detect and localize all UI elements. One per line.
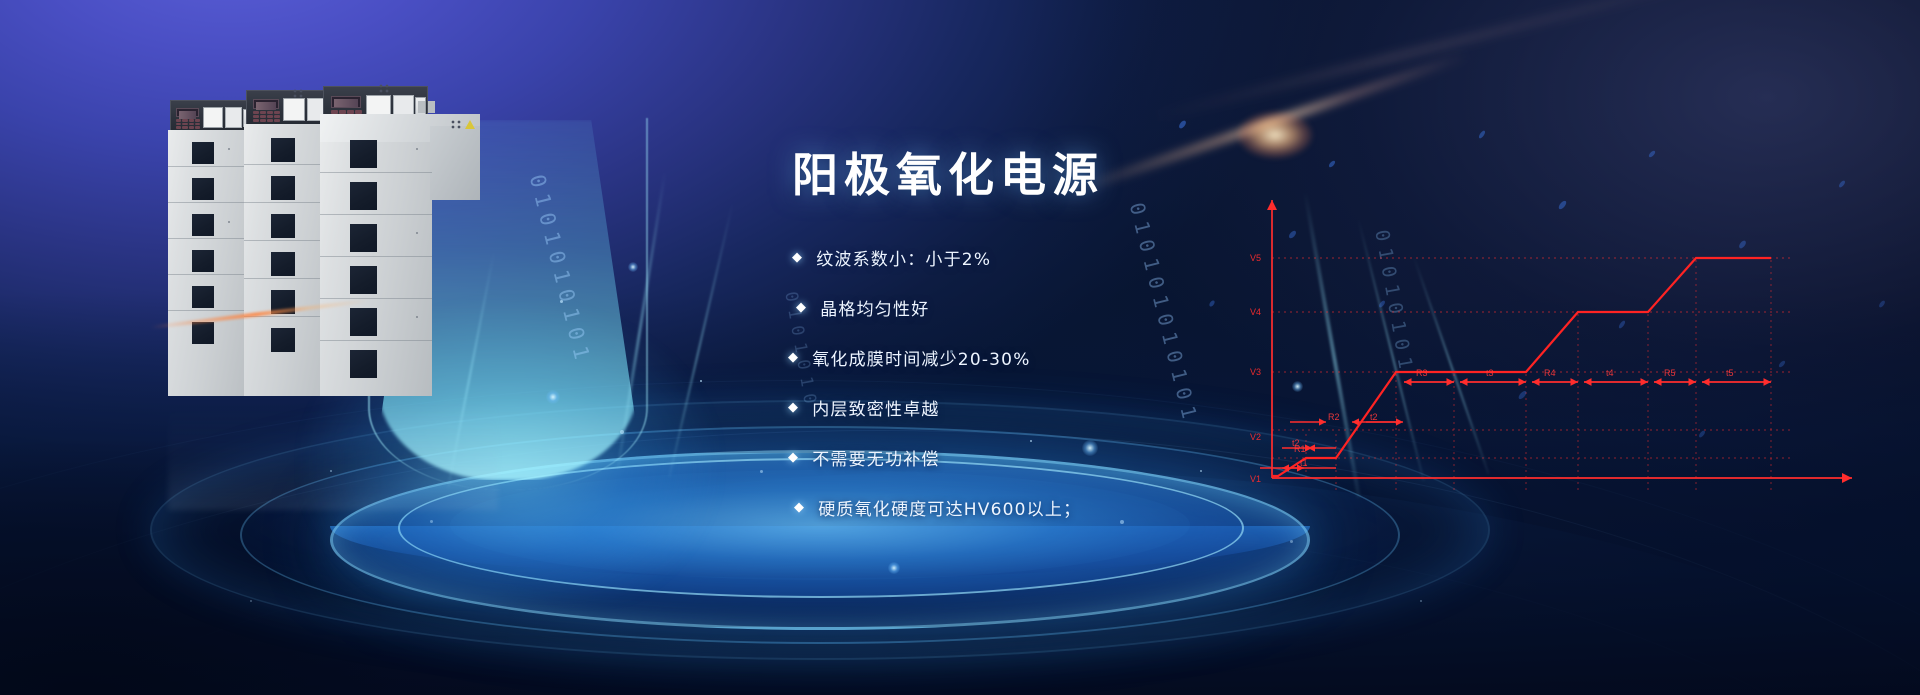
- cabinet-left-screw-1: [228, 148, 230, 150]
- cabinet-right-screw-1: [416, 148, 418, 150]
- feature-item-4: ◆ 内层致密性卓越: [788, 395, 1492, 420]
- diamond-bullet-icon: ◆: [792, 251, 803, 264]
- feature-list: ◆ 纹波系数小：小于2% ◆ 晶格均匀性好 ◆ 氧化成膜时间减少20-30% ◆…: [792, 245, 1492, 520]
- cabinet-right-seam-5: [320, 340, 432, 341]
- cabinet-right-vent-5: [350, 308, 377, 336]
- cabinet-left-seam-2: [168, 202, 256, 203]
- feature-item-6: ◆ 硬质氧化硬度可达HV600以上；: [794, 495, 1492, 520]
- diamond-bullet-icon: ◆: [788, 351, 799, 364]
- cabinet-left-meter-a: [203, 107, 223, 128]
- diamond-bullet-icon: ◆: [788, 451, 799, 464]
- cabinet-right-vent-2: [350, 182, 377, 210]
- diamond-bullet-icon: ◆: [788, 401, 799, 414]
- feature-label-6: 硬质氧化硬度可达HV600以上；: [818, 495, 1081, 520]
- cabinet-middle-keypad: [253, 111, 280, 122]
- warning-triangle-icon: [465, 120, 475, 129]
- cabinet-right-lcd: [331, 96, 361, 108]
- cabinet-right-indicator-dots: [379, 84, 393, 94]
- cabinet-left-vent-6: [192, 322, 214, 344]
- cabinet-middle-vent-1: [271, 138, 295, 162]
- cabinet-right-side-panel: [430, 126, 480, 200]
- feature-item-3: ◆ 氧化成膜时间减少20-30%: [788, 345, 1492, 370]
- product-cabinets-image: [168, 86, 498, 406]
- feature-label-2: 晶格均匀性好: [820, 295, 929, 320]
- cabinet-left-keypad: [176, 119, 200, 129]
- product-banner: 0101010101 010101010101 01010101 0101010: [0, 0, 1920, 695]
- cabinet-middle-vent-2: [271, 176, 295, 200]
- chart-label-t4: t4: [1606, 368, 1614, 378]
- feature-item-5: ◆ 不需要无功补偿: [788, 445, 1492, 470]
- page-title: 阳极氧化电源: [792, 150, 1492, 201]
- cabinet-left-meter-b: [225, 107, 242, 128]
- cabinet-middle-vent-6: [271, 328, 295, 352]
- cabinet-middle-lcd: [253, 99, 279, 109]
- cabinet-left-vent-3: [192, 214, 214, 236]
- cabinet-right-vent-4: [350, 266, 377, 294]
- cabinet-middle-indicator-dots: [293, 89, 307, 99]
- chart-label-t5: t5: [1726, 368, 1734, 378]
- cabinet-right-vent-1: [350, 140, 377, 168]
- diamond-bullet-icon: ◆: [796, 301, 807, 314]
- chart-label-r5: R5: [1664, 368, 1676, 378]
- cabinet-middle-vent-3: [271, 214, 295, 238]
- cabinet-right-seam-2: [320, 214, 432, 215]
- feature-label-3: 氧化成膜时间减少20-30%: [812, 345, 1030, 370]
- cabinet-left-seam-1: [168, 166, 256, 167]
- cabinet-right-vent-6: [350, 350, 377, 378]
- cabinet-left-vent-5: [192, 286, 214, 308]
- cabinet-left-vent-1: [192, 142, 214, 164]
- cabinet-right-seam-3: [320, 256, 432, 257]
- cabinet-reflection: [168, 400, 498, 510]
- feature-label-1: 纹波系数小：小于2%: [816, 245, 991, 270]
- cabinet-right-seam-1: [320, 172, 432, 173]
- chart-label-r4: R4: [1544, 368, 1556, 378]
- cabinet-right-seam-4: [320, 298, 432, 299]
- cabinet-right-vent-3: [350, 224, 377, 252]
- cabinet-left-seam-4: [168, 274, 256, 275]
- cabinet-left-seam-3: [168, 238, 256, 239]
- banner-content: 阳极氧化电源 ◆ 纹波系数小：小于2% ◆ 晶格均匀性好 ◆ 氧化成膜时间减少2…: [792, 150, 1492, 545]
- cabinet-middle-meter-a: [283, 98, 305, 121]
- cabinet-middle-vent-4: [271, 252, 295, 276]
- cabinet-right-screw-2: [416, 232, 418, 234]
- cabinet-left-control-head: [170, 100, 252, 132]
- feature-label-5: 不需要无功补偿: [812, 445, 939, 470]
- feature-item-2: ◆ 晶格均匀性好: [796, 295, 1492, 320]
- cabinet-left-vent-4: [192, 250, 214, 272]
- cabinet-left-lcd: [176, 108, 199, 117]
- cabinet-right-label-dots: [451, 120, 465, 130]
- cabinet-left-screw-2: [228, 221, 230, 223]
- cabinet-left-vent-2: [192, 178, 214, 200]
- cabinet-right-screw-3: [416, 316, 418, 318]
- feature-label-4: 内层致密性卓越: [812, 395, 939, 420]
- diamond-bullet-icon: ◆: [794, 501, 805, 514]
- cabinet-left-seam-5: [168, 310, 256, 311]
- feature-item-1: ◆ 纹波系数小：小于2%: [792, 245, 1492, 270]
